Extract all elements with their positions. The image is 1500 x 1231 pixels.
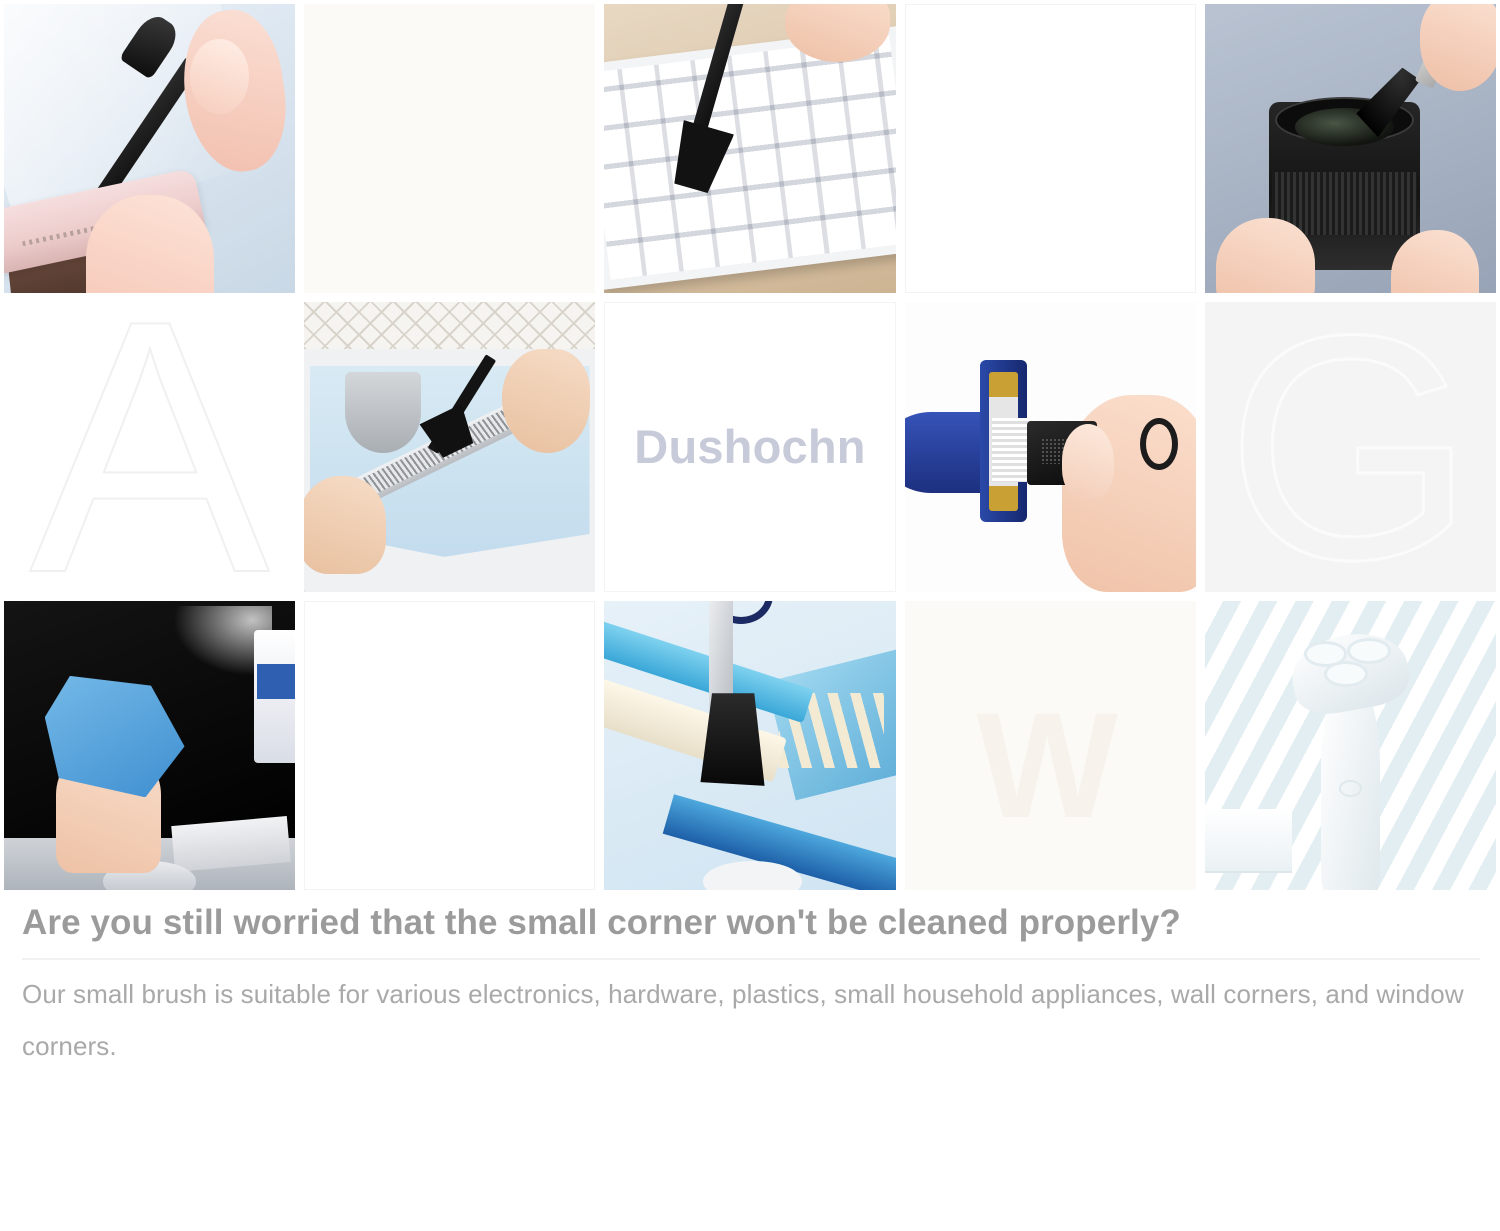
watermark-letter-g-icon: G: [1205, 302, 1496, 591]
gallery-cell-blank-white-1[interactable]: [905, 4, 1196, 293]
gallery-cell-watermark-a[interactable]: A: [4, 302, 295, 591]
gallery-cell-watermark-g[interactable]: G: [1205, 302, 1496, 591]
copy-divider: [22, 958, 1480, 960]
gallery-cell-razor-cleaning[interactable]: [905, 302, 1196, 591]
thumb-shape: [190, 39, 248, 114]
left-hand-shape: [304, 476, 386, 574]
brand-watermark-label: Dushochn: [634, 419, 865, 474]
hand-shape: [1420, 4, 1496, 91]
keycaps-shape: [604, 36, 895, 279]
gallery-cell-blank-white-2[interactable]: [304, 601, 595, 890]
product-detail-page: A Dushochn: [0, 0, 1500, 1231]
camera-lens-cleaning-photo: [1205, 4, 1496, 293]
gallery-cell-brand-watermark[interactable]: Dushochn: [604, 302, 895, 591]
left-hand-shape: [1216, 218, 1315, 293]
spray-bottle-label-shape: [257, 664, 295, 699]
promo-headline: Are you still worried that the small cor…: [22, 894, 1362, 952]
gallery-cell-camera-lens-cleaning[interactable]: [1205, 4, 1496, 293]
keyboard-body-shape: [604, 25, 895, 289]
product-image-gallery: A Dushochn: [0, 0, 1500, 890]
gallery-cell-phone-port-cleaning[interactable]: [4, 4, 295, 293]
shaver-stand-box-shape: [1205, 809, 1292, 873]
watermark-letter-a-icon: A: [4, 302, 295, 591]
keyboard-cleaning-photo: [604, 4, 895, 293]
razor-cleaning-photo: [905, 302, 1196, 591]
right-hand-shape: [502, 349, 589, 453]
screen-cleaning-photo: [4, 601, 295, 890]
gallery-cell-blank-cream-1[interactable]: [304, 4, 595, 293]
tile-backsplash-shape: [304, 302, 595, 348]
phone-port-cleaning-photo: [4, 4, 295, 293]
gallery-cell-equipment-cleaning[interactable]: [604, 601, 895, 890]
electric-shaver-photo: [1205, 601, 1496, 890]
grater-cleaning-photo: [304, 302, 595, 591]
promo-copy-block: Are you still worried that the small cor…: [0, 894, 1500, 1072]
gallery-cell-grater-cleaning[interactable]: [304, 302, 595, 591]
equipment-cleaning-photo: [604, 601, 895, 890]
gallery-cell-screen-cleaning[interactable]: [4, 601, 295, 890]
thumb-shape: [1062, 424, 1114, 499]
gallery-cell-blank-cream-2[interactable]: W: [905, 601, 1196, 890]
gallery-cell-keyboard-cleaning[interactable]: [604, 4, 895, 293]
gallery-cell-electric-shaver[interactable]: [1205, 601, 1496, 890]
keyboard-shape: [171, 816, 291, 872]
promo-subcopy: Our small brush is suitable for various …: [22, 968, 1478, 1072]
sieve-shape: [345, 372, 421, 453]
watermark-letter-w-icon: W: [957, 699, 1143, 832]
